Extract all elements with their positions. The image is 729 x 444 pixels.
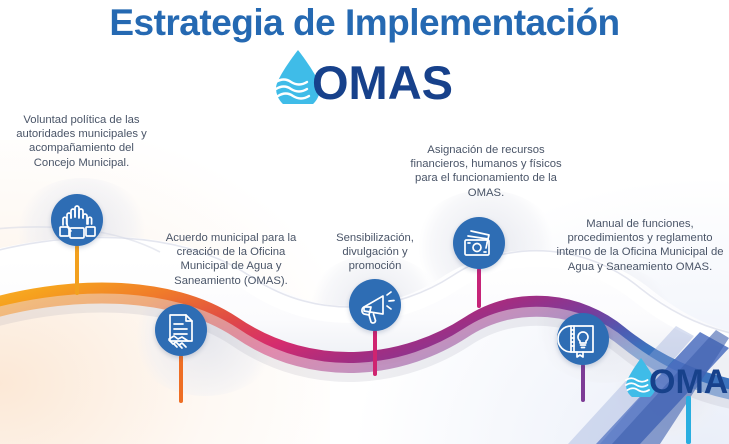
document-handshake-icon [155, 304, 207, 356]
step-1-caption: Voluntad política de las autoridades mun… [8, 113, 155, 170]
step-2-caption: Acuerdo municipal para la creación de la… [155, 231, 307, 288]
banknotes-icon [453, 217, 505, 269]
infographic-canvas: Estrategia de Implementación OMAS [0, 0, 729, 444]
step-5-node[interactable] [557, 313, 609, 365]
omas-logo-footer: OMAS [620, 357, 729, 397]
step-1-stem [75, 245, 79, 295]
step-5-caption: Manual de funciones, procedimientos y re… [556, 217, 724, 274]
megaphone-icon [349, 279, 401, 331]
omas-wordmark-footer: OMAS [649, 363, 729, 397]
step-2-node[interactable] [155, 304, 207, 356]
footer-logo-stem [686, 396, 691, 444]
step-3-stem [373, 330, 377, 376]
book-lightbulb-icon [557, 313, 609, 365]
step-3-node[interactable] [349, 279, 401, 331]
step-5-stem [581, 364, 585, 402]
step-1-node[interactable] [51, 194, 103, 246]
step-4-stem [477, 268, 481, 308]
step-4-caption: Asignación de recursos financieros, huma… [410, 143, 562, 200]
step-2-stem [179, 355, 183, 403]
step-3-caption: Sensibilización, divulgación y promoción [315, 231, 435, 274]
step-4-node[interactable] [453, 217, 505, 269]
raised-hands-icon [51, 194, 103, 246]
